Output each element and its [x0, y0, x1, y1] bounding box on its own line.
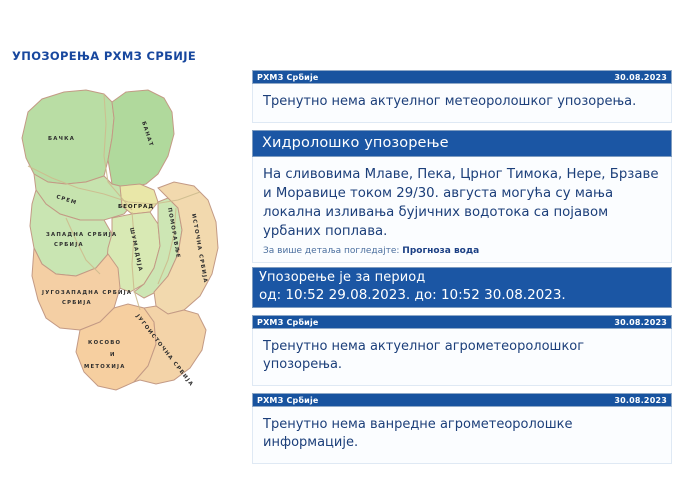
map-label-kosovo-and: И [110, 352, 116, 358]
panel-header-meteo: РХМЗ Србије 30.08.2023 [252, 70, 672, 84]
map-label-zapadna-srbija: ЗАПАДНА СРБИЈА [46, 232, 117, 238]
warnings-column: РХМЗ Србије 30.08.2023 Тренутно нема акт… [252, 70, 672, 471]
serbia-map-svg[interactable]: БАЧКА БАНАТ СРЕМ БЕОГРАД ЗАПАДНА СРБИЈА … [8, 78, 240, 413]
hydro-warning-text: На сливовима Млаве, Пека, Црног Тимока, … [263, 166, 661, 242]
region-banat[interactable] [108, 90, 174, 188]
hydro-period-range: од: 10:52 29.08.2023. до: 10:52 30.08.20… [259, 287, 663, 305]
warning-panel-agro-info: РХМЗ Србије 30.08.2023 Тренутно нема ван… [252, 393, 672, 464]
warning-panel-meteo: РХМЗ Србије 30.08.2023 Тренутно нема акт… [252, 70, 672, 123]
hydro-more-prefix: За више детаља погледајте: [263, 246, 399, 256]
panel-header-agro-info: РХМЗ Србије 30.08.2023 [252, 393, 672, 407]
panel-body-agro-meteo: Тренутно нема актуелног агрометеоролошко… [252, 329, 672, 386]
water-forecast-link[interactable]: Прогноза вода [402, 246, 479, 256]
map-label-zapadna-srbija-line2: СРБИЈА [54, 242, 84, 248]
hydro-period-title: Упозорење је за период [259, 270, 663, 286]
panel-date-label: 30.08.2023 [614, 318, 667, 327]
hydro-more-details: За више детаља погледајте: Прогноза вода [263, 246, 661, 256]
left-column: УПОЗОРЕЊА РХМЗ СРБИЈЕ [0, 0, 248, 480]
hydro-period-block: Упозорење је за период од: 10:52 29.08.2… [252, 267, 672, 308]
panel-source-label: РХМЗ Србије [257, 318, 319, 327]
map-label-beograd: БЕОГРАД [118, 204, 154, 210]
panel-source-label: РХМЗ Србије [257, 73, 319, 82]
hydro-body: На сливовима Млаве, Пека, Црног Тимока, … [252, 157, 672, 264]
map-label-jugozapadna-srbija: ЈУГОЗАПАДНА СРБИЈА [41, 290, 132, 296]
warning-panel-hydro: Хидролошко упозорење На сливовима Млаве,… [252, 130, 672, 308]
map-label-backa: БАЧКА [48, 136, 75, 142]
panel-source-label: РХМЗ Србије [257, 396, 319, 405]
hydro-heading: Хидролошко упозорење [252, 130, 672, 157]
map-label-jugozapadna-srbija-line2: СРБИЈА [62, 300, 92, 306]
map-label-kosovo: КОСОВО [88, 340, 121, 346]
panel-date-label: 30.08.2023 [614, 396, 667, 405]
warning-panel-agro-meteo: РХМЗ Србије 30.08.2023 Тренутно нема акт… [252, 315, 672, 386]
serbia-map[interactable]: БАЧКА БАНАТ СРЕМ БЕОГРАД ЗАПАДНА СРБИЈА … [8, 78, 240, 413]
panel-body-agro-info: Тренутно нема ванредне агрометеоролошке … [252, 407, 672, 464]
panel-date-label: 30.08.2023 [614, 73, 667, 82]
panel-body-meteo: Тренутно нема актуелног метеоролошког уп… [252, 84, 672, 123]
map-label-metohija: МЕТОХИЈА [84, 364, 126, 370]
page-title: УПОЗОРЕЊА РХМЗ СРБИЈЕ [12, 49, 196, 63]
panel-header-agro-meteo: РХМЗ Србије 30.08.2023 [252, 315, 672, 329]
page-root: УПОЗОРЕЊА РХМЗ СРБИЈЕ [0, 0, 685, 480]
